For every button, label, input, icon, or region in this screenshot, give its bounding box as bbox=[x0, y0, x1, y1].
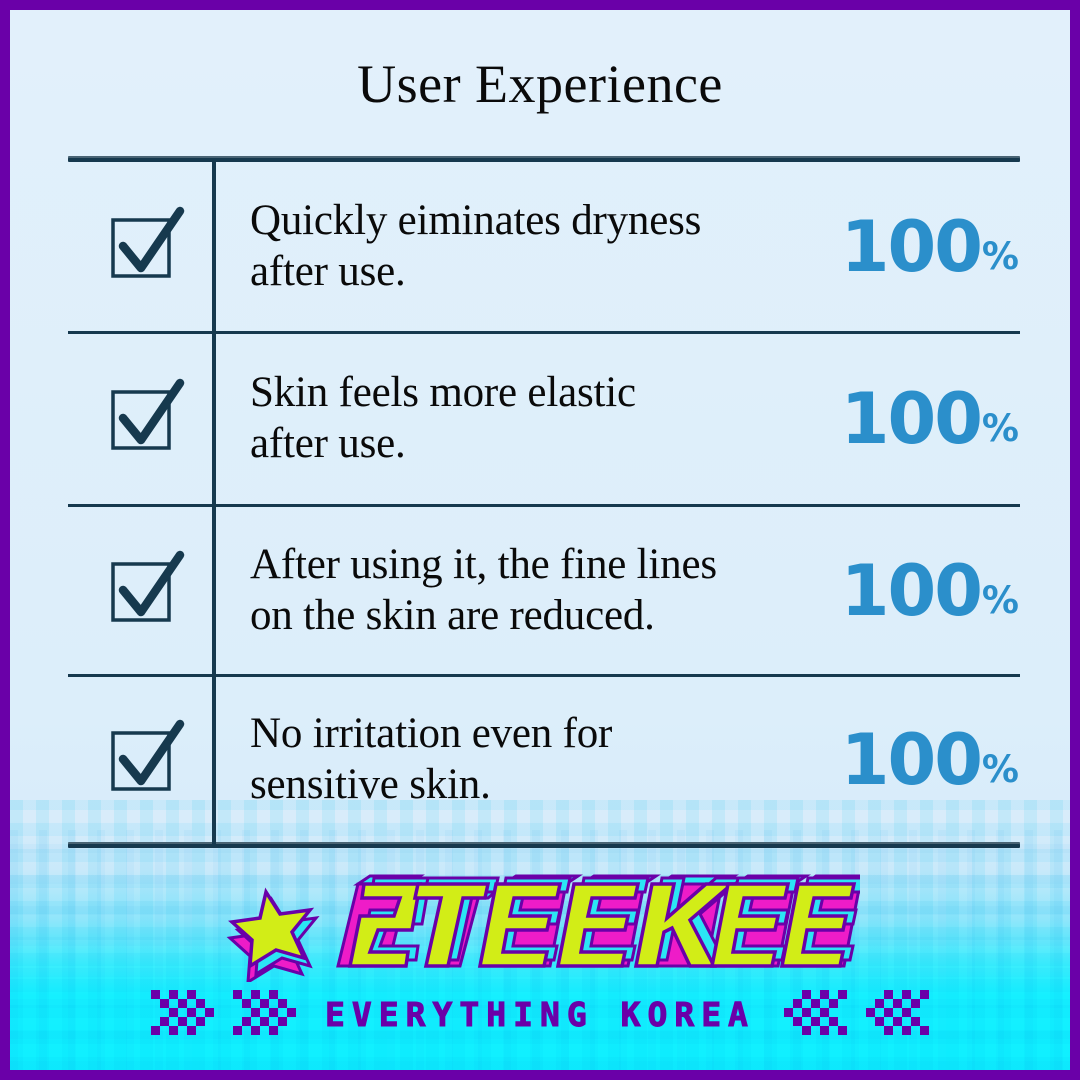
percent-value: 100% bbox=[800, 206, 1020, 288]
percent-number: 100 bbox=[841, 550, 981, 632]
table-row: After using it, the fine lines on the sk… bbox=[68, 507, 1020, 674]
benefits-table: Quickly eiminates dryness after use. 100… bbox=[68, 156, 1020, 848]
percent-symbol: % bbox=[982, 748, 1019, 791]
steekee-logo-icon bbox=[220, 870, 860, 982]
benefit-text: Quickly eiminates dryness after use. bbox=[212, 196, 800, 297]
percent-value: 100% bbox=[800, 378, 1020, 460]
left-chevrons bbox=[149, 986, 299, 1042]
percent-number: 100 bbox=[841, 378, 981, 460]
percent-number: 100 bbox=[841, 719, 981, 801]
benefit-text-line2: after use. bbox=[250, 419, 790, 470]
tagline-text: EVERYTHING KOREA bbox=[325, 995, 755, 1034]
right-chevrons bbox=[781, 986, 931, 1042]
brand-logo bbox=[10, 866, 1070, 986]
checkbox-cell bbox=[68, 563, 212, 619]
benefit-text-line1: No irritation even for bbox=[250, 709, 790, 760]
benefit-text-line2: sensitive skin. bbox=[250, 760, 790, 811]
checkbox-checked-icon[interactable] bbox=[112, 219, 168, 275]
benefit-text-line1: Quickly eiminates dryness bbox=[250, 196, 790, 247]
table-row: No irritation even for sensitive skin. 1… bbox=[68, 677, 1020, 842]
checkbox-checked-icon[interactable] bbox=[112, 391, 168, 447]
checkbox-cell bbox=[68, 219, 212, 275]
tagline-row: EVERYTHING KOREA bbox=[10, 978, 1070, 1050]
checkbox-cell bbox=[68, 391, 212, 447]
checkbox-cell bbox=[68, 732, 212, 788]
benefit-text-line2: after use. bbox=[250, 247, 790, 298]
percent-symbol: % bbox=[982, 579, 1019, 622]
page-title: User Experience bbox=[10, 56, 1070, 113]
percent-symbol: % bbox=[982, 407, 1019, 450]
percent-symbol: % bbox=[982, 235, 1019, 278]
benefit-text-line1: Skin feels more elastic bbox=[250, 368, 790, 419]
table-row: Quickly eiminates dryness after use. 100… bbox=[68, 162, 1020, 331]
percent-value: 100% bbox=[800, 719, 1020, 801]
benefit-text: Skin feels more elastic after use. bbox=[212, 368, 800, 469]
benefit-text-line1: After using it, the fine lines bbox=[250, 540, 790, 591]
checkbox-checked-icon[interactable] bbox=[112, 732, 168, 788]
chevron-left-pixel-icon bbox=[781, 986, 931, 1042]
poster-canvas: User Experience bbox=[10, 10, 1070, 1070]
benefit-text-line2: on the skin are reduced. bbox=[250, 591, 790, 642]
chevron-right-pixel-icon bbox=[149, 986, 299, 1042]
poster-frame: User Experience bbox=[0, 0, 1080, 1080]
table-row: Skin feels more elastic after use. 100% bbox=[68, 334, 1020, 504]
percent-value: 100% bbox=[800, 550, 1020, 632]
benefit-text: After using it, the fine lines on the sk… bbox=[212, 540, 800, 641]
percent-number: 100 bbox=[841, 206, 981, 288]
checkbox-checked-icon[interactable] bbox=[112, 563, 168, 619]
benefit-text: No irritation even for sensitive skin. bbox=[212, 709, 800, 810]
table-rule-bottom bbox=[68, 842, 1020, 848]
